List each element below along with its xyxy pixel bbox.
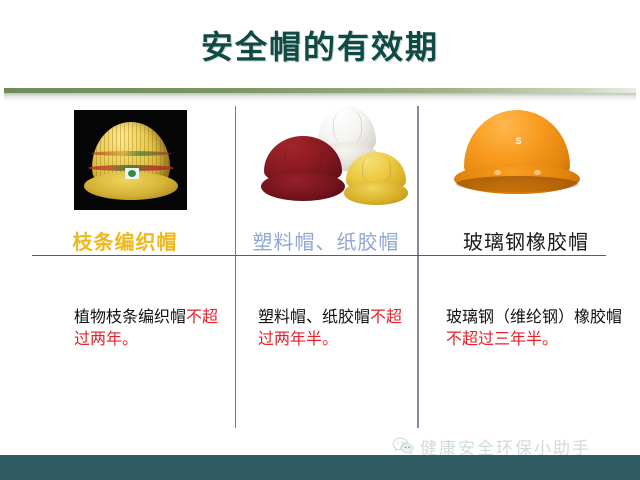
column-plastic [244,106,410,216]
orange-fiberglass-helmet-photo: S [454,108,580,208]
column-divider-1 [235,106,236,428]
red-helmet [264,136,342,202]
category-label-plastic: 塑料帽、纸胶帽 [240,226,412,255]
page-title: 安全帽的有效期 [0,22,640,68]
woven-bamboo-helmet-photo [74,110,187,210]
footer-bar [0,455,640,480]
helmet-rivet-left [494,170,501,175]
column-woven [22,106,228,216]
description-black-text: 植物枝条编织帽 [74,307,186,326]
row-divider [32,255,606,256]
slide-canvas: 安全帽的有效期 [0,0,640,480]
description-black-text: 塑料帽、纸胶帽 [258,307,370,326]
description-fiberglass: 玻璃钢（维纶钢）橡胶帽不超过三年半。 [446,306,632,350]
helmet-band-upper [91,151,171,156]
category-label-woven: 枝条编织帽 [22,226,228,255]
category-label-fiberglass: 玻璃钢橡胶帽 [424,226,628,255]
column-divider-2 [417,106,419,428]
helmet-rivet-right [534,170,541,175]
photo-slot-plastic [244,106,410,216]
description-red-text: 不超过三年半。 [446,329,558,348]
column-fiberglass: S [428,106,628,216]
helmet-badge [125,168,139,179]
description-plastic: 塑料帽、纸胶帽不超过两年半。 [258,306,418,350]
wechat-icon [392,437,414,455]
photo-slot-woven [22,106,228,216]
description-woven: 植物枝条编织帽不超过两年。 [74,306,224,350]
description-black-text: 玻璃钢（维纶钢）橡胶帽 [446,307,622,326]
title-divider-shadow [4,93,636,102]
helmet-lip [261,172,345,201]
helmet-logo: S [508,136,528,147]
photo-slot-fiberglass: S [428,106,628,216]
helmet-rib [362,155,392,183]
yellow-helmet [346,152,406,206]
plastic-and-paper-helmets-photo [258,106,408,210]
helmet-lip [344,181,409,205]
helmet-brim-shadow [456,176,578,192]
helmet-rib [284,140,322,174]
